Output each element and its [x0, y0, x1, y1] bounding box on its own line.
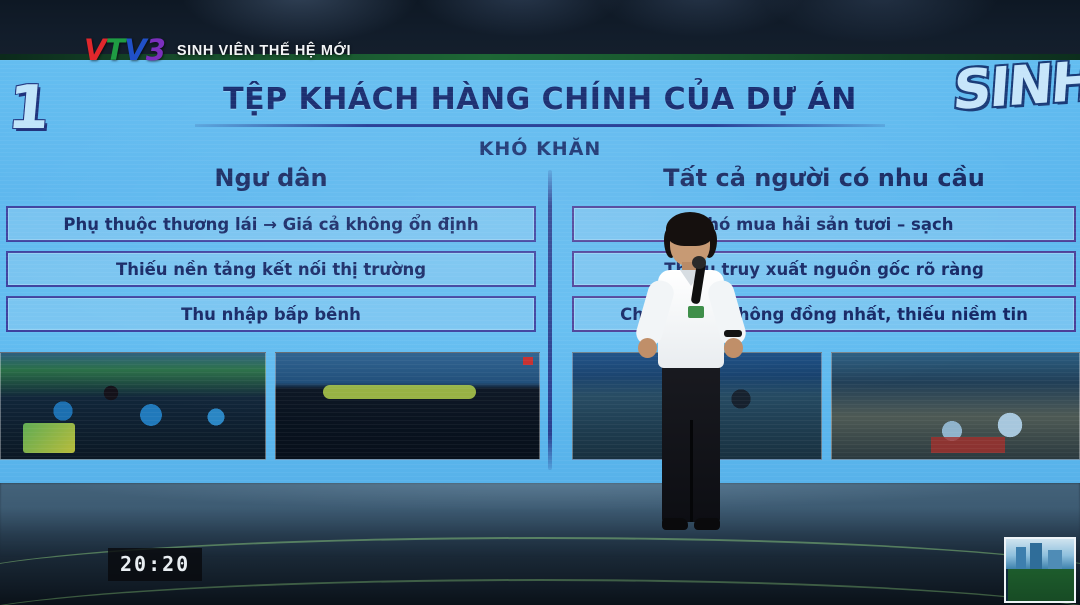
- crowd-blue-shirts-shore-photo: [0, 352, 266, 460]
- logo-letter-v2: V: [124, 33, 145, 67]
- column-divider: [548, 170, 552, 470]
- slide-title: TỆP KHÁCH HÀNG CHÍNH CỦA DỰ ÁN: [0, 82, 1080, 117]
- slide-subtitle: KHÓ KHĂN: [0, 138, 1080, 160]
- pip-yellow-accent: [1052, 601, 1072, 603]
- column-heading: Tất cả người có nhu cầu: [572, 164, 1076, 192]
- bullet-item: Thu nhập bấp bênh: [6, 296, 536, 332]
- bullet-item: Thiếu nền tảng kết nối thị trường: [6, 251, 536, 287]
- column-fishermen: Ngư dân Phụ thuộc thương lái → Giá cả kh…: [6, 164, 536, 341]
- timecode-overlay: 20:20: [108, 548, 202, 581]
- presenter-shirt-logo: [688, 306, 704, 318]
- vtv3-logo-icon: VTV3: [84, 36, 165, 65]
- bullet-item: Phụ thuộc thương lái → Giá cả không ổn đ…: [6, 206, 536, 242]
- presenter-right-shoe: [694, 518, 720, 530]
- show-title: SINH VIÊN THẾ HỆ MỚI: [177, 43, 351, 59]
- pip-building-two: [1030, 543, 1042, 569]
- logo-letter-t: T: [105, 33, 124, 67]
- logo-digit-3: 3: [146, 33, 165, 67]
- pip-skyline-scene: [1006, 539, 1074, 569]
- title-underline: [195, 124, 885, 127]
- broadcast-frame: 1 SINH TỆP KHÁCH HÀNG CHÍNH CỦA DỰ ÁN KH…: [0, 0, 1080, 605]
- presenter-leg-split: [690, 420, 693, 522]
- pip-building-three: [1048, 550, 1062, 569]
- pip-red-accent: [1014, 601, 1023, 603]
- presentation-slide: 1 SINH TỆP KHÁCH HÀNG CHÍNH CỦA DỰ ÁN KH…: [0, 60, 1080, 485]
- fish-market-stalls-photo: [831, 352, 1080, 460]
- column-heading: Ngư dân: [6, 164, 536, 192]
- presenter-hair: [666, 212, 714, 246]
- presenter-left-shoe: [662, 518, 688, 530]
- pip-building-one: [1016, 547, 1026, 569]
- presenter-right-hand: [724, 338, 743, 358]
- microphone-head: [692, 256, 706, 269]
- presenter-left-hand: [638, 338, 657, 358]
- presenter-wristwatch: [724, 330, 742, 337]
- stage-floor: [0, 483, 1080, 605]
- presenter-figure: [636, 210, 746, 540]
- pip-lower-scene: [1008, 569, 1076, 603]
- boat-dock-dusk-photo: [275, 352, 541, 460]
- picture-in-picture-overlay[interactable]: [1004, 537, 1076, 603]
- channel-bug: VTV3 SINH VIÊN THẾ HỆ MỚI: [84, 36, 351, 65]
- photo-strip-left: [0, 352, 540, 460]
- logo-letter-v1: V: [84, 33, 105, 67]
